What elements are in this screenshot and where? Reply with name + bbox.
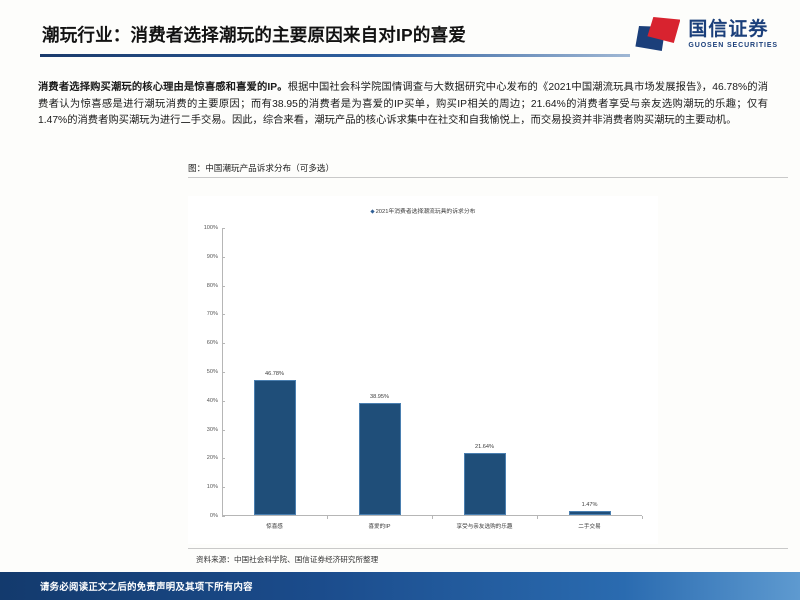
logo-text-block: 国信证券 GUOSEN SECURITIES bbox=[688, 20, 778, 49]
chart-bar-value-label: 38.95% bbox=[370, 394, 389, 400]
chart-y-tick-mark bbox=[222, 257, 225, 258]
chart-y-tick-label: 10% bbox=[194, 484, 218, 490]
chart-x-tick-mark bbox=[432, 516, 433, 519]
chart-category-label: 喜爱的IP bbox=[368, 522, 390, 530]
chart-y-tick-mark bbox=[222, 516, 225, 517]
chart-y-tick-label: 50% bbox=[194, 369, 218, 375]
chart-bar bbox=[254, 380, 296, 515]
chart-y-tick-mark bbox=[222, 228, 225, 229]
chart-y-tick-mark bbox=[222, 458, 225, 459]
chart-y-tick-mark bbox=[222, 487, 225, 488]
chart-y-tick-label: 80% bbox=[194, 283, 218, 289]
guosen-diamond-icon bbox=[635, 17, 681, 51]
chart-bar-value-label: 46.78% bbox=[265, 371, 284, 377]
chart-category-label: 二手交易 bbox=[578, 522, 600, 530]
chart-plot-area: 0%10%20%30%40%50%60%70%80%90%100%46.78%惊… bbox=[222, 228, 642, 516]
chart-y-tick-label: 90% bbox=[194, 254, 218, 260]
chart-x-tick-mark bbox=[642, 516, 643, 519]
chart-y-tick-mark bbox=[222, 314, 225, 315]
page-title: 潮玩行业：消费者选择潮玩的主要原因来自对IP的喜爱 bbox=[42, 22, 466, 47]
chart-y-tick-label: 40% bbox=[194, 398, 218, 404]
title-underline-rule bbox=[40, 54, 630, 57]
body-paragraph: 消费者选择购买潮玩的核心理由是惊喜感和喜爱的IP。根据中国社会科学院国情调查与大… bbox=[38, 80, 768, 130]
chart-y-tick-mark bbox=[222, 286, 225, 287]
chart-title-bullet-icon bbox=[370, 209, 374, 213]
chart-y-tick-label: 100% bbox=[194, 225, 218, 231]
chart-category-label: 惊喜感 bbox=[266, 522, 283, 530]
chart-title: 2021年消费者选择潮流玩具的诉求分布 bbox=[188, 206, 658, 215]
chart-bar bbox=[569, 511, 611, 515]
logo-name-cn: 国信证券 bbox=[688, 20, 778, 39]
figure-header: 图：中国潮玩产品诉求分布（可多选） bbox=[188, 162, 618, 178]
figure-source: 资料来源：中国社会科学院、国信证券经济研究所整理 bbox=[196, 554, 378, 565]
footer-disclaimer: 请务必阅读正文之后的免责声明及其项下所有内容 bbox=[40, 579, 253, 593]
chart-y-tick-label: 20% bbox=[194, 455, 218, 461]
logo-name-en: GUOSEN SECURITIES bbox=[688, 42, 778, 49]
chart-title-text: 2021年消费者选择潮流玩具的诉求分布 bbox=[376, 209, 476, 215]
slide: 潮玩行业：消费者选择潮玩的主要原因来自对IP的喜爱 国信证券 GUOSEN SE… bbox=[0, 0, 800, 600]
chart-container: 2021年消费者选择潮流玩具的诉求分布 0%10%20%30%40%50%60%… bbox=[188, 196, 658, 544]
chart-y-tick-label: 30% bbox=[194, 427, 218, 433]
chart-x-tick-mark bbox=[537, 516, 538, 519]
chart-y-tick-mark bbox=[222, 343, 225, 344]
chart-category-label: 享受与亲友选购的乐趣 bbox=[457, 522, 513, 530]
chart-bar-value-label: 1.47% bbox=[582, 502, 598, 508]
source-rule bbox=[188, 548, 788, 549]
body-paragraph-block: 消费者选择购买潮玩的核心理由是惊喜感和喜爱的IP。根据中国社会科学院国情调查与大… bbox=[38, 80, 768, 130]
body-paragraph-lead: 消费者选择购买潮玩的核心理由是惊喜感和喜爱的IP。 bbox=[38, 82, 288, 93]
chart-y-tick-mark bbox=[222, 401, 225, 402]
chart-bar bbox=[464, 453, 506, 515]
chart-bar bbox=[359, 403, 401, 515]
chart-y-tick-mark bbox=[222, 430, 225, 431]
chart-x-tick-mark bbox=[327, 516, 328, 519]
chart-y-tick-mark bbox=[222, 372, 225, 373]
chart-y-tick-label: 70% bbox=[194, 311, 218, 317]
chart-y-tick-label: 0% bbox=[194, 513, 218, 519]
slide-header: 潮玩行业：消费者选择潮玩的主要原因来自对IP的喜爱 国信证券 GUOSEN SE… bbox=[0, 0, 800, 68]
slide-footer: 请务必阅读正文之后的免责声明及其项下所有内容 bbox=[0, 572, 800, 600]
chart-y-tick-label: 60% bbox=[194, 340, 218, 346]
company-logo: 国信证券 GUOSEN SECURITIES bbox=[635, 17, 778, 51]
chart-bar-value-label: 21.64% bbox=[475, 444, 494, 450]
figure-caption: 图：中国潮玩产品诉求分布（可多选） bbox=[188, 162, 618, 177]
figure-caption-rule bbox=[188, 177, 788, 178]
